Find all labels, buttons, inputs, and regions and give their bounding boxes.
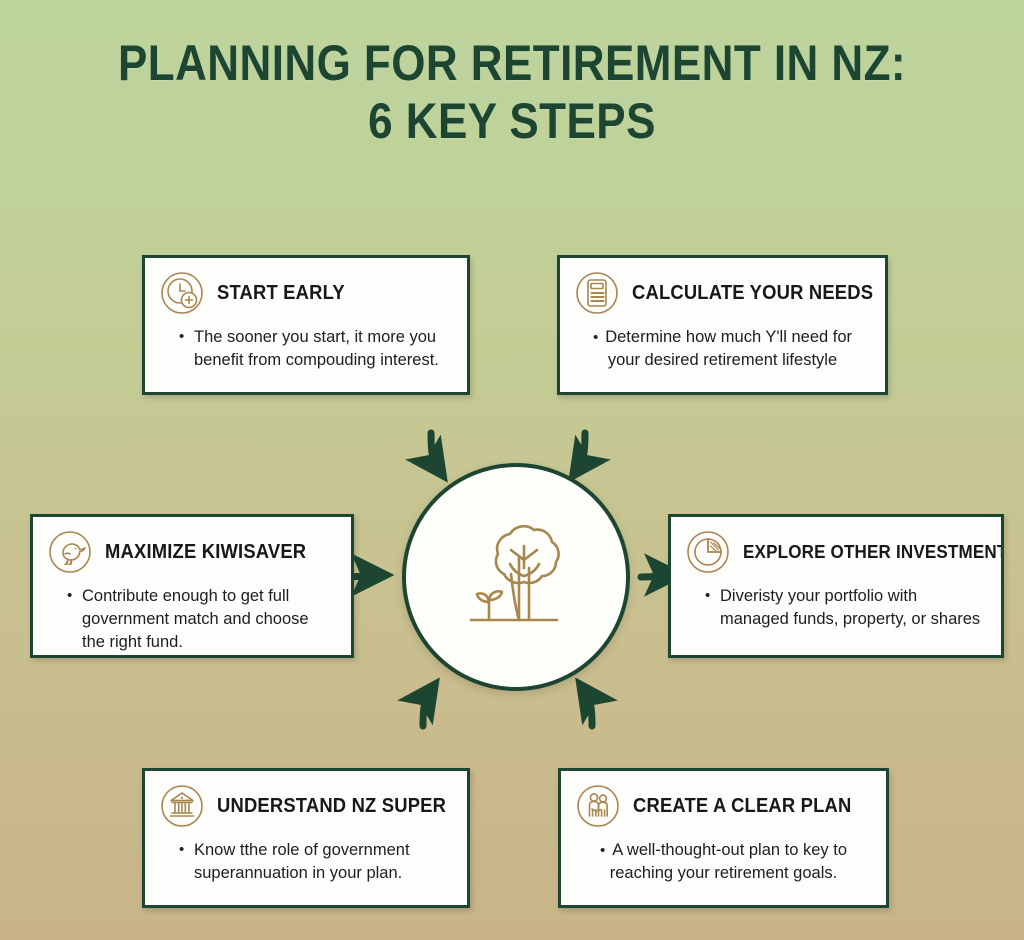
card-header: MAXIMIZE KIWISAVER [33, 517, 351, 575]
infographic-canvas: PLANNING FOR RETIREMENT IN NZ: 6 KEY STE… [0, 0, 1024, 940]
bullet-item: A well-thought-out plan to key to reachi… [583, 839, 864, 885]
card-start-early[interactable]: START EARLY The sooner you start, it mor… [142, 255, 470, 395]
card-title: START EARLY [217, 282, 345, 304]
card-explore-investments[interactable]: EXPLORE OTHER INVESTMENTS Diveristy your… [668, 514, 1004, 658]
arrow-top-right [577, 433, 585, 470]
kiwi-bird-icon [47, 529, 93, 575]
card-body: Determine how much Y'll need for your de… [560, 316, 885, 372]
card-body: Contribute enough to get full government… [33, 575, 351, 654]
arrow-top-left [431, 433, 439, 470]
center-hub [402, 463, 630, 691]
bullet-item: Know tthe role of government superannuat… [179, 839, 447, 885]
pie-chart-icon [685, 529, 731, 575]
page-title: PLANNING FOR RETIREMENT IN NZ: 6 KEY STE… [0, 34, 1024, 150]
card-body: Diveristy your portfolio with managed fu… [671, 575, 1001, 631]
bullet-item: Contribute enough to get full government… [67, 585, 331, 654]
clock-plus-icon [159, 270, 205, 316]
card-body: A well-thought-out plan to key to reachi… [561, 829, 886, 885]
bullet-list: The sooner you start, it more you benefi… [179, 326, 447, 372]
bullet-list: A well-thought-out plan to key to reachi… [583, 839, 864, 885]
arrow-bottom-left [423, 690, 431, 726]
card-header: UNDERSTAND NZ SUPER [145, 771, 467, 829]
tree-with-sapling-icon [441, 502, 591, 652]
bullet-item: Determine how much Y'll need for your de… [582, 326, 863, 372]
title-line-2: 6 KEY STEPS [61, 92, 962, 150]
card-header: START EARLY [145, 258, 467, 316]
card-header: CALCULATE YOUR NEEDS [560, 258, 885, 316]
card-title: CREATE A CLEAR PLAN [633, 795, 852, 817]
calculator-icon [574, 270, 620, 316]
bullet-list: Know tthe role of government superannuat… [179, 839, 447, 885]
card-title: UNDERSTAND NZ SUPER [217, 795, 446, 817]
arrow-bottom-right [584, 690, 592, 726]
people-group-icon [575, 783, 621, 829]
bullet-list: Contribute enough to get full government… [67, 585, 331, 654]
bullet-item: Diveristy your portfolio with managed fu… [705, 585, 981, 631]
card-body: The sooner you start, it more you benefi… [145, 316, 467, 372]
title-line-1: PLANNING FOR RETIREMENT IN NZ: [61, 34, 962, 92]
card-title: EXPLORE OTHER INVESTMENTS [743, 541, 1004, 563]
card-understand-super[interactable]: UNDERSTAND NZ SUPER Know tthe role of go… [142, 768, 470, 908]
card-header: EXPLORE OTHER INVESTMENTS [671, 517, 1001, 575]
bullet-list: Diveristy your portfolio with managed fu… [705, 585, 981, 631]
card-header: CREATE A CLEAR PLAN [561, 771, 886, 829]
card-title: CALCULATE YOUR NEEDS [632, 282, 873, 304]
card-title: MAXIMIZE KIWISAVER [105, 541, 306, 563]
card-body: Know tthe role of government superannuat… [145, 829, 467, 885]
card-calculate-needs[interactable]: CALCULATE YOUR NEEDS Determine how much … [557, 255, 888, 395]
bank-building-icon [159, 783, 205, 829]
card-maximize-kiwisaver[interactable]: MAXIMIZE KIWISAVER Contribute enough to … [30, 514, 354, 658]
bullet-item: The sooner you start, it more you benefi… [179, 326, 447, 372]
bullet-list: Determine how much Y'll need for your de… [582, 326, 863, 372]
card-create-plan[interactable]: CREATE A CLEAR PLAN A well-thought-out p… [558, 768, 889, 908]
